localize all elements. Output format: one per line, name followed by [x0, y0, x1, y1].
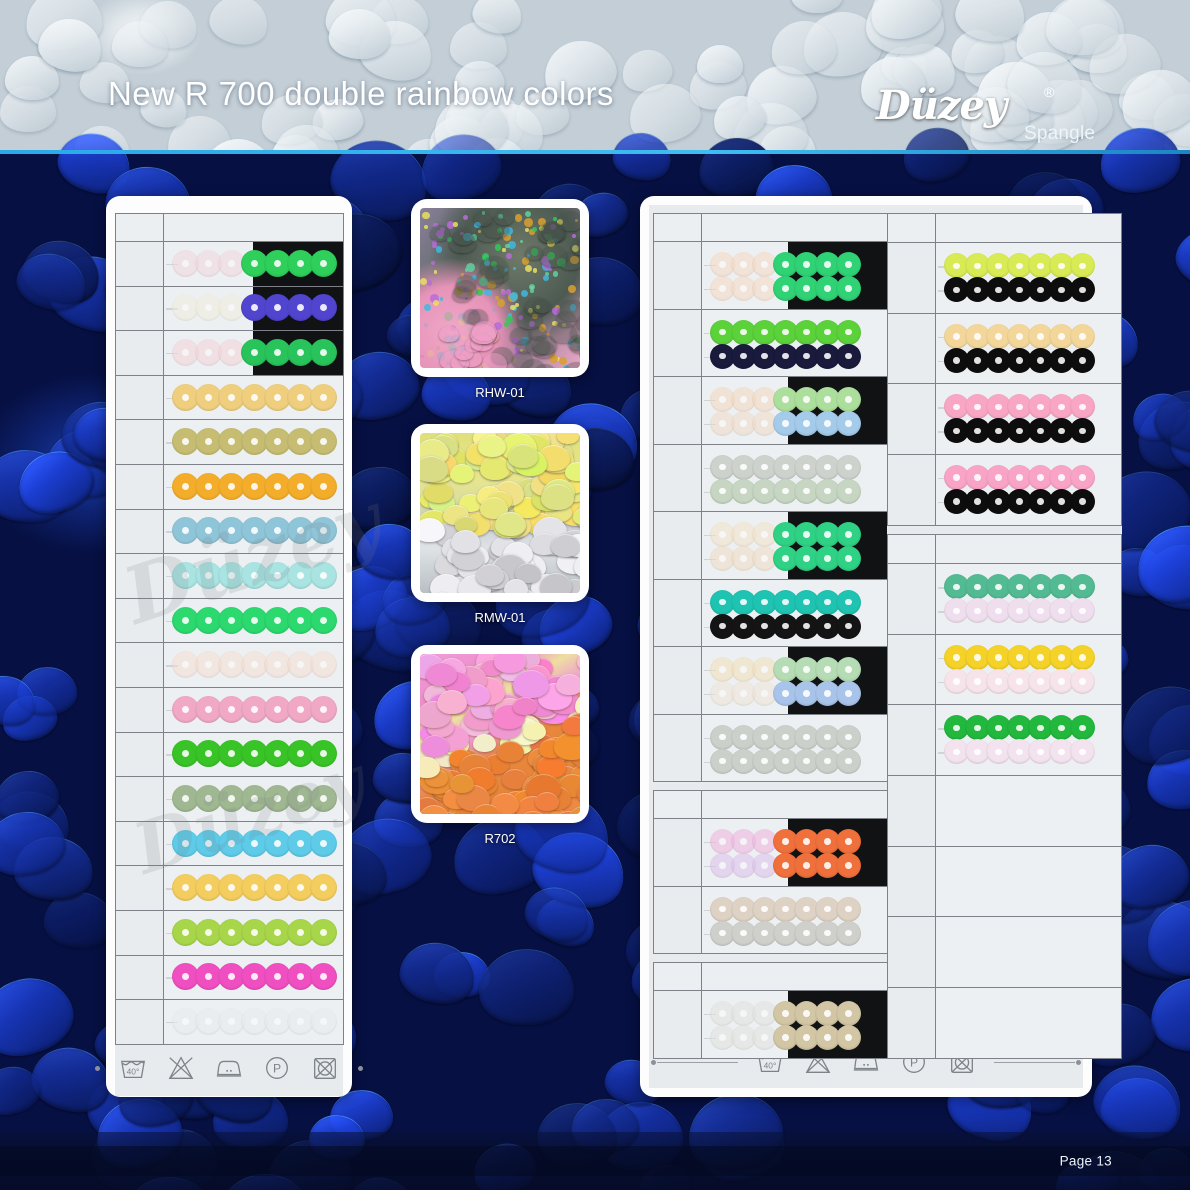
sequin-strip [936, 489, 1121, 514]
photo-card-rhw-01: RHW-01 [411, 199, 589, 400]
holo-fleck [436, 346, 440, 350]
row-swatch-cell [164, 732, 344, 777]
row-no-cell [654, 886, 702, 954]
table-row [654, 991, 888, 1059]
sequin-strip [702, 411, 887, 436]
sequin [1070, 418, 1095, 443]
table-row [116, 286, 344, 331]
sequin [836, 725, 861, 750]
row-swatch-cell [936, 987, 1122, 1058]
sequin [310, 384, 337, 411]
row-swatch-cell [164, 866, 344, 911]
sequin-strip [164, 517, 343, 544]
sequin [310, 607, 337, 634]
sequin-strip [164, 830, 343, 857]
row-swatch-cell [936, 634, 1122, 705]
table-row [116, 955, 344, 1000]
table-row [116, 910, 344, 955]
header-no [116, 214, 164, 242]
row-no-cell [116, 242, 164, 287]
sequin-scale [439, 326, 459, 342]
table-row [654, 309, 888, 377]
holo-fleck [515, 214, 523, 222]
table-row [116, 821, 344, 866]
table-row [116, 420, 344, 465]
sequin [836, 614, 861, 639]
sequin-strip [702, 725, 887, 750]
table-row [888, 313, 1122, 384]
sequin-strip [702, 252, 887, 277]
wash-40-icon: 40° [118, 1053, 148, 1083]
holo-fleck [462, 336, 465, 339]
holo-fleck [427, 350, 434, 357]
header-section-title [936, 214, 1122, 243]
right-color-chart-panel: Düzey Düzey Düzey [640, 196, 1092, 1097]
table-row [654, 714, 888, 782]
sequin [310, 250, 337, 277]
sequin [310, 473, 337, 500]
row-swatch-cell [702, 377, 888, 445]
sequin [1070, 253, 1095, 278]
row-no-cell [116, 777, 164, 822]
sequin [836, 455, 861, 480]
sequin-scale [473, 734, 496, 752]
sequin [836, 853, 861, 878]
sequin [310, 830, 337, 857]
table-row [654, 819, 888, 887]
table-row [116, 464, 344, 509]
do-not-bleach-icon [166, 1053, 196, 1083]
sequin-scale [474, 211, 492, 226]
row-no-cell [116, 1000, 164, 1045]
header-no [654, 963, 702, 991]
sequin [836, 829, 861, 854]
sequin [310, 785, 337, 812]
table-header-row [654, 214, 888, 242]
care-instruction-bar: 40° P [115, 1046, 343, 1090]
holo-fleck [532, 227, 537, 232]
sequin-strip [702, 897, 887, 922]
table-row [888, 634, 1122, 705]
sequin-strip [702, 681, 887, 706]
header-no [654, 214, 702, 242]
table-row [888, 243, 1122, 314]
sequin [310, 517, 337, 544]
do-not-tumble-dry-icon [310, 1053, 340, 1083]
sequin [836, 546, 861, 571]
row-swatch-cell [164, 1000, 344, 1045]
svg-text:40°: 40° [764, 1061, 777, 1071]
row-swatch-cell [936, 705, 1122, 776]
sequin [310, 294, 337, 321]
row-swatch-cell [164, 598, 344, 643]
sequin [1070, 324, 1095, 349]
table-row [116, 598, 344, 643]
holo-fleck [444, 312, 453, 321]
page-number: Page 13 [1060, 1154, 1112, 1169]
sequin [1070, 348, 1095, 373]
table-row [888, 917, 1122, 988]
sequin-strip [702, 853, 887, 878]
sequin-strip [164, 250, 343, 277]
sequin [836, 522, 861, 547]
sequin-strip [702, 387, 887, 412]
sequin-scale [455, 346, 473, 360]
row-no-cell [888, 917, 936, 988]
photo-caption: RMW-01 [411, 610, 589, 625]
footer-band [0, 1146, 1190, 1176]
sequin-strip [702, 657, 887, 682]
holo-fleck [553, 271, 559, 277]
sequin [1070, 598, 1095, 623]
row-swatch-cell [164, 955, 344, 1000]
row-swatch-cell [164, 777, 344, 822]
row-swatch-cell [164, 821, 344, 866]
holo-fleck [505, 244, 509, 248]
sequin-scale [476, 223, 500, 242]
table-row [116, 1000, 344, 1045]
registered-trademark-icon: ® [1044, 84, 1054, 100]
sequin-scale [452, 286, 472, 302]
sequin [1070, 715, 1095, 740]
row-swatch-cell [164, 554, 344, 599]
header-section-title [702, 214, 888, 242]
table-header-row [654, 963, 888, 991]
sequin-strip [936, 574, 1121, 599]
photo-frame [411, 424, 589, 602]
holo-fleck [420, 355, 424, 359]
sequin-strip [702, 590, 887, 615]
row-swatch-cell [936, 917, 1122, 988]
table-row [116, 643, 344, 688]
sequin-strip [164, 473, 343, 500]
row-swatch-cell [164, 464, 344, 509]
sequin-strip [936, 277, 1121, 302]
table-row [888, 705, 1122, 776]
sequin-scale [437, 690, 467, 714]
photo-caption: R702 [411, 831, 589, 846]
holo-fleck [525, 211, 531, 217]
holo-fleck [424, 225, 428, 229]
sequin-scale [535, 792, 559, 811]
table-row [654, 647, 888, 715]
sequin-strip [164, 651, 343, 678]
sequin [836, 276, 861, 301]
sequin-scale [538, 222, 564, 243]
iron-low-icon [214, 1053, 244, 1083]
row-no-cell [654, 647, 702, 715]
holo-fleck [504, 322, 509, 327]
sequin-scale [504, 579, 528, 593]
holo-fleck [440, 297, 444, 301]
photo-card-rmw-01: RMW-01 [411, 424, 589, 625]
sequin [310, 919, 337, 946]
row-swatch-cell [164, 509, 344, 554]
row-swatch-cell [164, 242, 344, 287]
sequin-strip [164, 339, 343, 366]
table-row [116, 777, 344, 822]
sequin [836, 749, 861, 774]
table-header-row [888, 535, 1122, 564]
header-no [888, 535, 936, 564]
sequin-scale [523, 722, 546, 740]
sequin [310, 740, 337, 767]
sequin-strip [936, 394, 1121, 419]
sequin [836, 921, 861, 946]
table-row [116, 866, 344, 911]
sequin [310, 963, 337, 990]
sequin-strip [164, 562, 343, 589]
table-row [654, 886, 888, 954]
sequin-strip [702, 1001, 887, 1026]
row-no-cell [654, 714, 702, 782]
table-row [116, 331, 344, 376]
logo-subtitle: Spangle [1024, 123, 1095, 145]
sequin [836, 657, 861, 682]
row-no-cell [116, 554, 164, 599]
holo-fleck [424, 304, 431, 311]
holo-fleck [506, 253, 512, 259]
holo-fleck [510, 292, 518, 300]
holo-fleck [568, 285, 576, 293]
sequin [1070, 277, 1095, 302]
photo-rmw-01 [420, 433, 580, 593]
sequin-strip [936, 598, 1121, 623]
sequin-strip [164, 428, 343, 455]
left-chart-inner: Düzey Düzey [115, 213, 343, 1096]
sequin-scale [512, 351, 533, 368]
sequin-scale [513, 670, 549, 698]
sequin-scale [450, 464, 474, 483]
sequin-strip [702, 344, 887, 369]
sequin-strip [702, 479, 887, 504]
row-swatch-cell [702, 512, 888, 580]
table-header-row [654, 791, 888, 819]
sequin-scale [565, 462, 580, 481]
sequin [310, 651, 337, 678]
row-swatch-cell [164, 420, 344, 465]
care-line-right [994, 1062, 1075, 1063]
dry-clean-p-icon: P [262, 1053, 292, 1083]
holo-fleck [525, 265, 532, 272]
row-swatch-cell [164, 375, 344, 420]
sequin-scale [577, 654, 580, 671]
table-row [888, 776, 1122, 847]
photo-frame [411, 645, 589, 823]
row-swatch-cell [164, 286, 344, 331]
sequin-strip [164, 696, 343, 723]
holo-fleck [572, 234, 576, 238]
sequin-scale [421, 735, 449, 757]
row-swatch-cell [164, 331, 344, 376]
sequin-strip [164, 607, 343, 634]
row-no-cell [116, 955, 164, 1000]
row-no-cell [116, 286, 164, 331]
svg-text:P: P [273, 1062, 281, 1076]
row-swatch-cell [164, 643, 344, 688]
holo-fleck [529, 284, 535, 290]
row-no-cell [116, 687, 164, 732]
sequin [836, 320, 861, 345]
holo-fleck [533, 268, 538, 273]
row-no-cell [116, 732, 164, 777]
brand-logo: Düzey ® Spangle [876, 82, 1106, 144]
sequin [310, 339, 337, 366]
holo-fleck [579, 296, 580, 301]
sequin-scale [424, 481, 453, 503]
sequin-strip [702, 546, 887, 571]
row-no-cell [888, 564, 936, 635]
sequin-scale [551, 534, 580, 557]
row-no-cell [116, 643, 164, 688]
sequin [310, 428, 337, 455]
sequin-strip [702, 749, 887, 774]
sequin-scale [430, 225, 450, 241]
table-row [116, 732, 344, 777]
sequin-scale [525, 246, 543, 260]
table-row [654, 377, 888, 445]
sequin-strip [936, 418, 1121, 443]
sequin-strip [702, 614, 887, 639]
sequin-scale [540, 573, 572, 593]
holo-fleck [484, 289, 491, 296]
header-section-title [936, 535, 1122, 564]
table-row [654, 444, 888, 512]
holo-fleck [453, 222, 458, 227]
row-no-cell [654, 444, 702, 512]
row-no-cell [888, 634, 936, 705]
row-no-cell [888, 243, 936, 314]
left-color-table [115, 213, 344, 1045]
holo-fleck [497, 299, 505, 307]
holo-fleck [424, 323, 428, 327]
sequin [1070, 645, 1095, 670]
row-no-cell [888, 384, 936, 455]
sequin-strip [164, 785, 343, 812]
holo-fleck [434, 270, 438, 274]
table-header-row [116, 214, 344, 242]
holo-fleck [521, 290, 528, 297]
sequin-strip [936, 253, 1121, 278]
holo-fleck [524, 218, 533, 227]
sequin-strip [936, 348, 1121, 373]
logo-wordmark: Düzey [876, 82, 1006, 129]
holo-fleck [520, 240, 523, 243]
row-swatch-cell [936, 384, 1122, 455]
sequin-scale [494, 654, 526, 673]
row-swatch-cell [702, 444, 888, 512]
right-chart-inner: Düzey Düzey Düzey [649, 205, 1083, 1088]
sequin [1070, 489, 1095, 514]
holo-fleck [543, 275, 549, 281]
sequin-strip [164, 874, 343, 901]
sequin-strip [164, 740, 343, 767]
sequin-scale [480, 456, 510, 480]
sequin [836, 479, 861, 504]
table-row [888, 384, 1122, 455]
sequin-scale [450, 774, 474, 793]
sequin [310, 562, 337, 589]
row-no-cell [654, 377, 702, 445]
sequin-strip [702, 455, 887, 480]
sequin [836, 387, 861, 412]
sequin-strip [702, 921, 887, 946]
holo-fleck [463, 215, 468, 220]
sequin [1070, 574, 1095, 599]
row-swatch-cell [936, 455, 1122, 526]
row-no-cell [888, 987, 936, 1058]
table-row [888, 455, 1122, 526]
section-gap [654, 954, 888, 963]
sequin [310, 874, 337, 901]
row-swatch-cell [936, 846, 1122, 917]
row-no-cell [654, 309, 702, 377]
sequin-scale [476, 267, 503, 288]
svg-text:40°: 40° [127, 1067, 140, 1077]
row-no-cell [116, 420, 164, 465]
header-section-title [702, 791, 888, 819]
holo-fleck [502, 248, 505, 251]
holo-fleck [422, 212, 429, 219]
sequin-strip [164, 963, 343, 990]
sequin-scale [513, 697, 537, 715]
page-header: New R 700 double rainbow colors Düzey ® … [0, 0, 1190, 152]
header-no [888, 214, 936, 243]
header-section-title [702, 963, 888, 991]
sequin-strip [702, 320, 887, 345]
section-gap [888, 525, 1122, 534]
photo-card-r702: R702 [411, 645, 589, 846]
sequin-strip [702, 276, 887, 301]
row-swatch-cell [936, 243, 1122, 314]
row-swatch-cell [702, 991, 888, 1059]
sequin-scale [562, 716, 580, 735]
table-row [116, 687, 344, 732]
sequin [836, 1025, 861, 1050]
sequin-strip [702, 522, 887, 547]
row-no-cell [116, 598, 164, 643]
sequin-scale [533, 299, 551, 313]
table-header-row [888, 214, 1122, 243]
header-no [654, 791, 702, 819]
sequin [1070, 669, 1095, 694]
row-no-cell [116, 331, 164, 376]
sequin-scale [478, 435, 506, 457]
sequin-strip [702, 1025, 887, 1050]
row-no-cell [116, 821, 164, 866]
page-footer: Page 13 [0, 1132, 1190, 1190]
row-no-cell [888, 705, 936, 776]
row-swatch-cell [164, 910, 344, 955]
table-row [888, 846, 1122, 917]
row-no-cell [654, 242, 702, 310]
sequin [836, 681, 861, 706]
holo-fleck [559, 357, 567, 365]
sequin [836, 897, 861, 922]
sequin-scale [453, 228, 474, 245]
row-swatch-cell [702, 309, 888, 377]
sequin-strip [164, 294, 343, 321]
sequin-scale [540, 245, 567, 267]
sequin-strip [936, 715, 1121, 740]
sequin [836, 344, 861, 369]
header-r200-colors [164, 214, 344, 242]
sequin [310, 696, 337, 723]
photo-frame [411, 199, 589, 377]
table-row [654, 242, 888, 310]
holo-fleck [427, 280, 433, 286]
photo-caption: RHW-01 [411, 385, 589, 400]
